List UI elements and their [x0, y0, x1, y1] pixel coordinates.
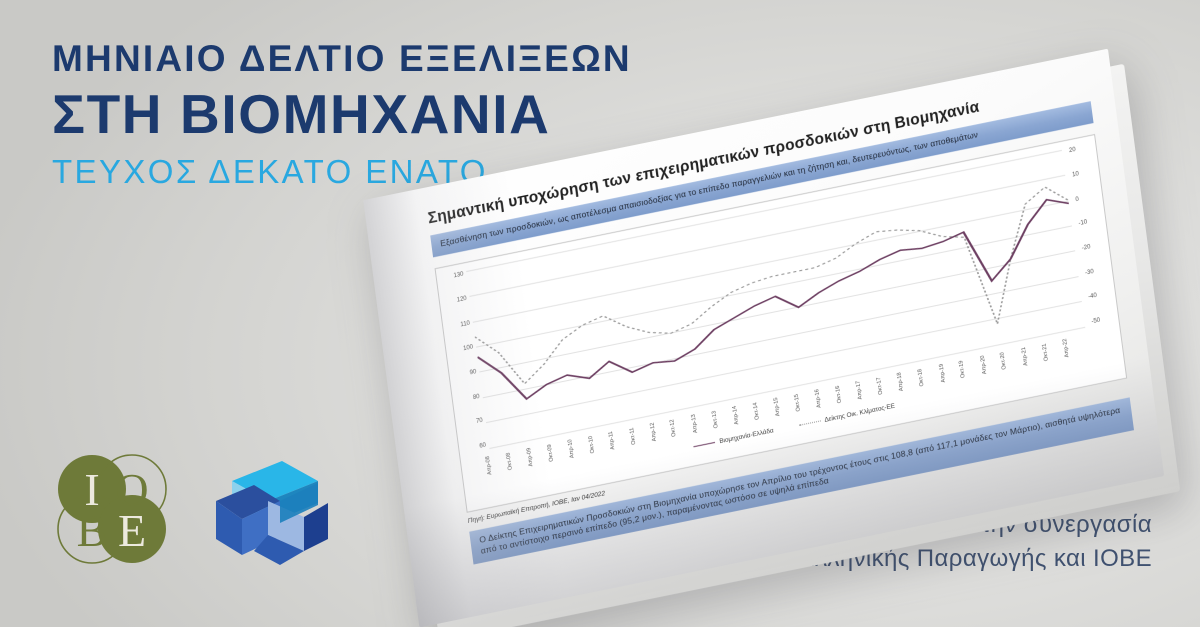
y-tick: 70	[476, 418, 483, 425]
y2-tick: 20	[1069, 147, 1076, 154]
y-tick: 110	[460, 320, 470, 328]
legend-swatch-dotted	[799, 420, 821, 425]
headline-line-2: ΣΤΗ ΒΙΟΜΗΧΑΝΙΑ	[52, 84, 632, 146]
y-tick: 60	[479, 442, 486, 449]
iobe-logo: I O B E	[52, 449, 172, 569]
y2-tick: 10	[1072, 171, 1079, 178]
x-tick: Απρ-22	[1062, 333, 1094, 358]
y-tick: 130	[453, 271, 464, 279]
y2-tick: 0	[1075, 196, 1079, 203]
logo-row: I O B E	[52, 447, 332, 571]
iobe-letter-b: B	[77, 505, 108, 556]
y-tick: 80	[473, 393, 480, 400]
y-tick: 100	[463, 345, 474, 353]
y2-tick: -40	[1088, 293, 1097, 301]
y2-tick: -10	[1078, 220, 1087, 228]
y2-tick: -30	[1085, 269, 1094, 277]
y2-tick: -20	[1082, 244, 1091, 252]
iobe-letter-e: E	[118, 505, 146, 556]
headline-line-1: ΜΗΝΙΑΙΟ ΔΕΛΤΙΟ ΕΞΕΛΙΞΕΩΝ	[52, 40, 632, 79]
y-tick: 120	[457, 296, 468, 304]
y-tick: 90	[469, 369, 476, 376]
y2-tick: -50	[1091, 317, 1100, 325]
elliniki-paragogi-logo	[208, 447, 332, 571]
legend-swatch-solid	[694, 441, 716, 446]
